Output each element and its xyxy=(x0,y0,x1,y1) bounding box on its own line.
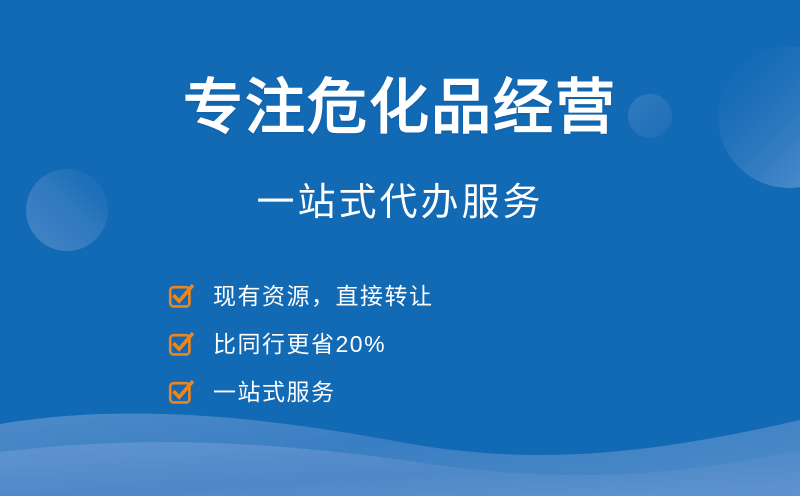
promo-banner: 专注危化品经营 一站式代办服务 现有资源，直接转让 xyxy=(0,0,800,496)
checkbox-checked-icon xyxy=(168,379,194,405)
list-item: 现有资源，直接转让 xyxy=(168,272,588,320)
page-subtitle: 一站式代办服务 xyxy=(0,184,800,222)
feature-label: 一站式服务 xyxy=(213,381,336,404)
feature-list: 现有资源，直接转让 比同行更省20% 一站式 xyxy=(168,272,588,416)
page-title: 专注危化品经营 xyxy=(0,78,800,138)
list-item: 一站式服务 xyxy=(168,368,588,416)
list-item: 比同行更省20% xyxy=(168,320,588,368)
checkbox-checked-icon xyxy=(168,331,194,357)
feature-label: 现有资源，直接转让 xyxy=(213,285,434,308)
feature-label: 比同行更省20% xyxy=(213,333,386,356)
banner-content: 专注危化品经营 一站式代办服务 现有资源，直接转让 xyxy=(0,0,800,496)
checkbox-checked-icon xyxy=(168,283,194,309)
